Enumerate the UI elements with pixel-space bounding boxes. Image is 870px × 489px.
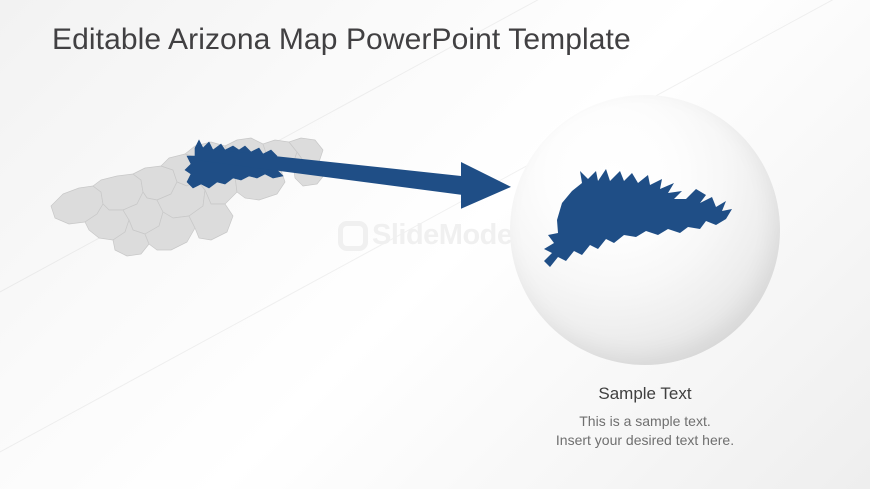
arrow-shape xyxy=(199,148,511,209)
caption-body: This is a sample text. Insert your desir… xyxy=(490,412,800,450)
slide-canvas: Editable Arizona Map PowerPoint Template… xyxy=(0,0,870,489)
right-arrow-pointer xyxy=(195,145,525,235)
page-title: Editable Arizona Map PowerPoint Template xyxy=(52,23,631,57)
caption-title: Sample Text xyxy=(510,384,780,404)
sphere-magnifier[interactable] xyxy=(510,95,780,365)
caption-line-1: This is a sample text. xyxy=(490,412,800,431)
caption-line-2: Insert your desired text here. xyxy=(490,431,800,450)
